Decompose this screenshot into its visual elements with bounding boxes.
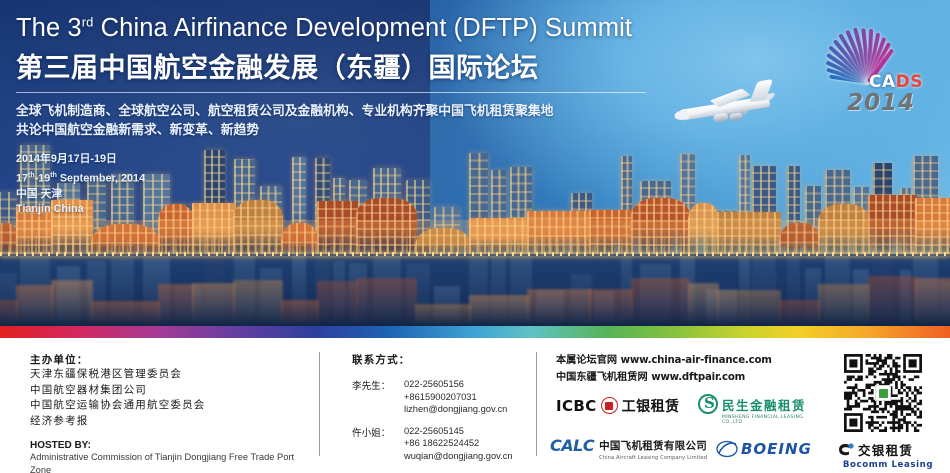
building-reflection [589,289,633,326]
cads-wordmark-part2: DS [896,72,923,92]
host-item-chinese: 经济参考报 [30,414,305,430]
calc-abbr: CALC [550,436,594,455]
cads-logo: CADS 2014 [815,20,935,116]
event-details: 2014年9月17日-19日 17th-19th September, 2014… [16,152,676,218]
date-en-sup2: th [50,172,57,179]
skyline-glow [0,220,950,266]
sponsor-logo-calc[interactable]: CALC 中国飞机租赁有限公司 China Aircraft Leasing C… [550,436,707,461]
sponsor-logos: ICBC工银租赁 民生金融租赁 MINSHENG FINANCIAL LEASI… [556,396,818,468]
contact-phone[interactable]: 022-25605156 [404,378,507,391]
contact-title: 联系方式： [352,352,532,367]
hosts-list-english: Administrative Commission of Tianjin Don… [30,451,305,473]
host-item-english: Administrative Commission of Tianjin Don… [30,451,305,473]
contact-email[interactable]: lizhen@dongjiang.gov.cn [404,403,507,416]
building-reflection [779,300,820,326]
footer-section: 主办单位： 天津东疆保税港区管理委员会中国航空器材集团公司中国航空运输协会通用航… [0,338,950,473]
building-reflection [233,280,283,326]
calc-name-chinese: 中国飞机租赁有限公司 [599,440,707,452]
host-item-chinese: 中国航空运输协会通用航空委员会 [30,398,305,414]
website-list: 本属论坛官网 www.china-air-finance.com中国东疆飞机租赁… [556,352,806,386]
building-reflection [688,283,719,326]
website-row: 本属论坛官网 www.china-air-finance.com [556,352,806,369]
waterfront-lamps [0,252,950,256]
sponsor-logo-bocomm[interactable]: 交银租赁 Bocomm Leasing [838,440,938,470]
building-reflection [356,278,417,326]
hero-text-block: The 3rd China Airfinance Development (DF… [16,14,676,218]
date-en-day2: -19 [35,172,51,184]
contact-person-name: 仵小姐： [352,425,404,463]
date-en-sup1: th [28,172,35,179]
hosts-list-chinese: 天津东疆保税港区管理委员会中国航空器材集团公司中国航空运输协会通用航空委员会经济… [30,367,305,429]
host-item-chinese: 中国航空器材集团公司 [30,383,305,399]
icbc-seal-icon [601,397,618,414]
contact-phone[interactable]: +86 18622524452 [404,437,513,450]
summit-poster: CADS 2014 The 3rd China Airfinance Devel… [0,0,950,473]
website-row: 中国东疆飞机租赁网 www.dftpair.com [556,369,806,386]
building-reflection [158,284,194,327]
title-english-ordinal: rd [82,15,94,30]
building-reflection [717,290,781,326]
sponsor-logo-minsheng[interactable]: 民生金融租赁 MINSHENG FINANCIAL LEASING CO.,LT… [698,394,818,425]
qr-code[interactable] [844,354,922,432]
host-item-chinese: 天津东疆保税港区管理委员会 [30,367,305,383]
icbc-abbr: ICBC [556,397,597,415]
location-english: Tianjin China [16,202,676,218]
building-reflection [818,284,870,327]
cads-wordmark: CADS [869,72,923,92]
websites-column: 本属论坛官网 www.china-air-finance.com中国东疆飞机租赁… [556,352,806,386]
footer-divider-2 [536,352,537,456]
contact-person: 李先生：022-25605156+8615900207031lizhen@don… [352,378,532,416]
building-reflection [415,304,471,326]
title-chinese: 第三届中国航空金融发展（东疆）国际论坛 [16,46,676,85]
contact-person-details: 022-25605156+8615900207031lizhen@dongjia… [404,378,507,416]
date-english: 17th-19th September, 2014 [16,168,676,187]
bocomm-name-chinese: 交银租赁 [858,440,913,459]
website-url[interactable]: www.dftpair.com [651,372,745,383]
minsheng-s-icon [698,394,718,414]
sponsor-logo-icbc[interactable]: ICBC工银租赁 [556,396,680,416]
bocomm-name-english: Bocomm Leasing [838,460,938,470]
cads-year: 2014 [847,90,915,116]
contact-phone[interactable]: 022-25605145 [404,425,513,438]
footer-divider-1 [319,352,320,456]
title-english-rest: China Airfinance Development (DFTP) Summ… [93,14,632,42]
website-url[interactable]: www.china-air-finance.com [621,355,772,366]
icbc-name-chinese: 工银租赁 [622,399,680,415]
title-divider [16,92,646,93]
building-reflection [317,281,358,326]
boeing-swoosh-icon [716,440,738,458]
building-reflection [631,278,690,326]
sponsor-logo-boeing[interactable]: BOEING [716,440,812,458]
building-reflection [527,289,591,326]
date-en-month: September, 2014 [57,172,145,184]
website-label: 本属论坛官网 [556,355,621,366]
title-english: The 3rd China Airfinance Development (DF… [16,14,676,43]
date-en-day1: 17 [16,172,28,184]
building-reflection [16,285,53,326]
date-chinese: 2014年9月17日-19日 [16,152,676,168]
building-reflection [51,280,93,326]
contact-email[interactable]: wuqian@dongjiang.gov.cn [404,450,513,463]
building-reflection [868,276,917,326]
contact-column: 联系方式： 李先生：022-25605156+8615900207031lizh… [352,352,532,472]
building-reflection [915,278,950,326]
cads-wordmark-part1: CA [869,72,896,92]
title-english-prefix: The 3 [16,14,82,42]
hosts-title-english: HOSTED BY: [30,440,305,451]
website-label: 中国东疆飞机租赁网 [556,372,651,383]
rainbow-divider-stripe [0,326,950,338]
building-reflection [469,295,529,326]
contact-list: 李先生：022-25605156+8615900207031lizhen@don… [352,378,532,463]
building-reflection [281,300,319,326]
subtitle-line-2: 共论中国航空金融新需求、新变革、新趋势 [16,121,676,140]
contact-person: 仵小姐：022-25605145+86 18622524452wuqian@do… [352,425,532,463]
calc-name-english: China Aircraft Leasing Company Limited [599,455,707,461]
contact-person-name: 李先生： [352,378,404,416]
hosts-title-chinese: 主办单位： [30,352,305,367]
hero-banner: CADS 2014 The 3rd China Airfinance Devel… [0,0,950,326]
qr-center-logo-icon [875,385,891,401]
subtitle-line-1: 全球飞机制造商、全球航空公司、航空租赁公司及金融机构、专业机构齐聚中国飞机租赁聚… [16,102,676,121]
hosts-column: 主办单位： 天津东疆保税港区管理委员会中国航空器材集团公司中国航空运输协会通用航… [30,352,305,473]
building-reflection [192,283,235,326]
contact-phone[interactable]: +8615900207031 [404,391,507,404]
building-reflection [91,301,160,327]
contact-person-details: 022-25605145+86 18622524452wuqian@dongji… [404,425,513,463]
bocomm-mark-icon [838,442,855,457]
minsheng-name-chinese: 民生金融租赁 [722,395,806,414]
location-chinese: 中国 天津 [16,187,676,203]
minsheng-name-english: MINSHENG FINANCIAL LEASING CO.,LTD. [722,415,818,425]
boeing-wordmark: BOEING [741,440,812,458]
